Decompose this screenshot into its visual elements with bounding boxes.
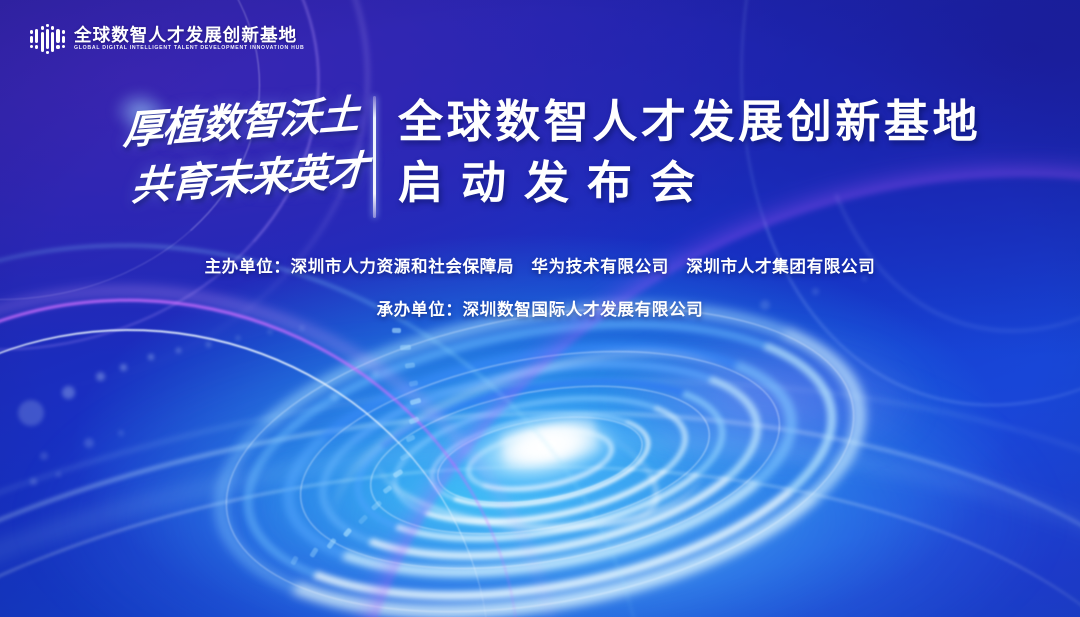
logo-bar bbox=[56, 29, 59, 43]
brand-name-cn: 全球数智人才发展创新基地 bbox=[74, 26, 305, 45]
brand-logo[interactable]: 全球数智人才发展创新基地 GLOBAL DIGITAL INTELLIGENT … bbox=[30, 24, 305, 54]
logo-bar-column bbox=[56, 24, 59, 54]
logo-dot bbox=[30, 30, 33, 33]
logo-bar-column bbox=[30, 24, 33, 54]
logo-bar-column bbox=[35, 24, 38, 54]
logo-dot bbox=[41, 26, 44, 29]
logo-dot bbox=[62, 45, 65, 48]
logo-dot bbox=[46, 51, 49, 54]
event-backdrop-poster: 全球数智人才发展创新基地 GLOBAL DIGITAL INTELLIGENT … bbox=[0, 0, 1080, 617]
logo-dot bbox=[51, 26, 54, 29]
logo-bar bbox=[51, 32, 54, 52]
slogan-line-2: 共育未来英才 bbox=[130, 151, 368, 207]
logo-bar-column bbox=[62, 24, 65, 54]
logo-bar-column bbox=[46, 24, 49, 54]
logo-bar bbox=[62, 36, 65, 43]
brand-name-en: GLOBAL DIGITAL INTELLIGENT TALENT DEVELO… bbox=[74, 46, 305, 52]
vertical-light-divider bbox=[373, 96, 376, 218]
logo-dot bbox=[30, 45, 33, 48]
logo-bar bbox=[46, 29, 49, 50]
logo-bar bbox=[41, 32, 44, 52]
calligraphy-slogan: 厚植数智沃土 共育未来英才 bbox=[118, 97, 368, 215]
host-organizers-line: 主办单位：深圳市人力资源和社会保障局 华为技术有限公司 深圳市人才集团有限公司 bbox=[0, 253, 1080, 277]
co-organizer-line: 承办单位：深圳数智国际人才发展有限公司 bbox=[0, 296, 1080, 320]
logo-dot bbox=[35, 45, 38, 48]
logo-bar-column bbox=[41, 24, 44, 54]
data-bars-icon bbox=[30, 24, 65, 54]
brand-logo-text: 全球数智人才发展创新基地 GLOBAL DIGITAL INTELLIGENT … bbox=[74, 26, 305, 52]
title-line-1: 全球数智人才发展创新基地 bbox=[398, 98, 981, 147]
logo-dot bbox=[62, 30, 65, 33]
logo-dot bbox=[46, 24, 49, 27]
title-line-2: 启动发布会 bbox=[398, 159, 981, 208]
logo-bar bbox=[30, 36, 33, 43]
logo-dot bbox=[56, 45, 59, 48]
page-title: 全球数智人才发展创新基地 启动发布会 bbox=[398, 98, 981, 207]
logo-bar bbox=[35, 29, 38, 43]
logo-bar-column bbox=[51, 24, 54, 54]
